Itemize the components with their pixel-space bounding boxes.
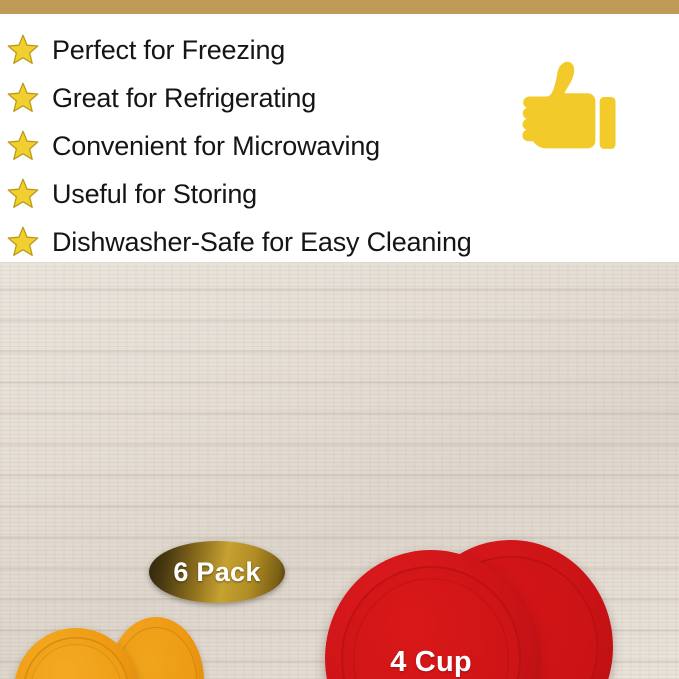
star-icon [6, 129, 40, 163]
star-icon [6, 33, 40, 67]
product-photo: 1 Cup 4 Cup 2 Cup [0, 262, 679, 679]
feature-item: Great for Refrigerating [6, 76, 316, 120]
feature-item-label: Great for Refrigerating [52, 85, 316, 112]
feature-list-panel: Perfect for Freezing Great for Refrigera… [0, 14, 679, 262]
feature-item-label: Useful for Storing [52, 181, 257, 208]
pack-count-badge: 6 Pack [149, 541, 285, 603]
pack-count-label: 6 Pack [173, 559, 260, 586]
feature-item: Useful for Storing [6, 172, 257, 216]
star-icon [6, 81, 40, 115]
thumbs-up-icon [520, 58, 616, 162]
feature-item: Convenient for Microwaving [6, 124, 380, 168]
red-lid-label: 4 Cup [325, 648, 537, 677]
feature-item-label: Dishwasher-Safe for Easy Cleaning [52, 229, 472, 256]
feature-item: Dishwasher-Safe for Easy Cleaning [6, 220, 472, 264]
top-accent-bar [0, 0, 679, 14]
feature-item: Perfect for Freezing [6, 28, 285, 72]
feature-item-label: Convenient for Microwaving [52, 133, 380, 160]
product-image: Perfect for Freezing Great for Refrigera… [0, 0, 679, 679]
star-icon [6, 225, 40, 259]
feature-item-label: Perfect for Freezing [52, 37, 285, 64]
star-icon [6, 177, 40, 211]
orange-lid-front: 1 Cup [14, 628, 138, 679]
